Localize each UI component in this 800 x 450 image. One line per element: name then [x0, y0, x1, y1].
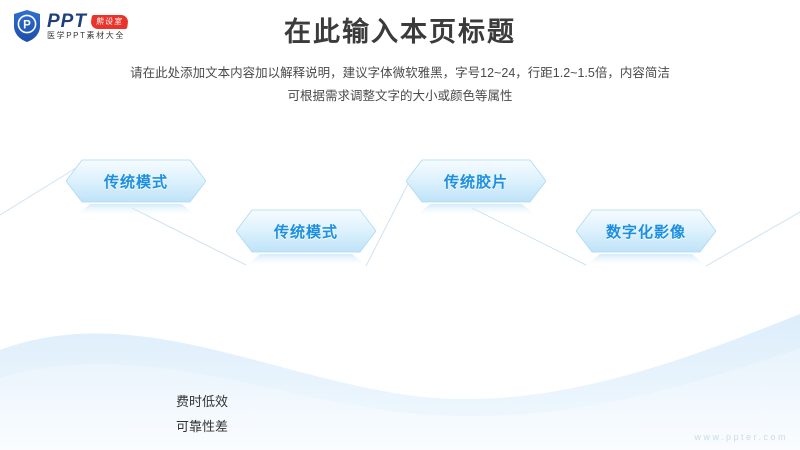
hexagon-label-0: 传统模式 [66, 158, 206, 204]
diagram-node-0[interactable]: 传统模式 费时低效 可靠性差 [66, 158, 206, 218]
node-body-0: 费时低效 可靠性差 [122, 390, 282, 439]
hexagon-badge-3[interactable]: 数字化影像 [576, 208, 716, 268]
hexagon-badge-2[interactable]: 传统胶片 [406, 158, 546, 218]
footer-watermark-url: www.ppter.com [694, 432, 788, 442]
hexagon-label-2: 传统胶片 [406, 158, 546, 204]
connector-segment-start [0, 168, 76, 215]
process-diagram: 传统模式 费时低效 可靠性差 传统模式 快捷可靠 效率高 [0, 0, 800, 450]
hexagon-label-3: 数字化影像 [576, 208, 716, 254]
diagram-node-2[interactable]: 传统胶片 占用空间 不易查询 [406, 158, 546, 218]
slide-canvas: P PPT 熊设室 医学PPT素材大全 在此输入本页标题 请在此处添加文本内容加… [0, 0, 800, 450]
diagram-node-3[interactable]: 数字化影像 永久无损 方便快捷 [576, 208, 716, 268]
node-body-0-line-2: 可靠性差 [122, 415, 282, 440]
connector-segment-end [706, 212, 800, 266]
node-body-0-line-1: 费时低效 [122, 390, 282, 415]
hexagon-label-1: 传统模式 [236, 208, 376, 254]
diagram-node-1[interactable]: 传统模式 快捷可靠 效率高 [236, 208, 376, 268]
hexagon-badge-1[interactable]: 传统模式 [236, 208, 376, 268]
hexagon-badge-0[interactable]: 传统模式 [66, 158, 206, 218]
